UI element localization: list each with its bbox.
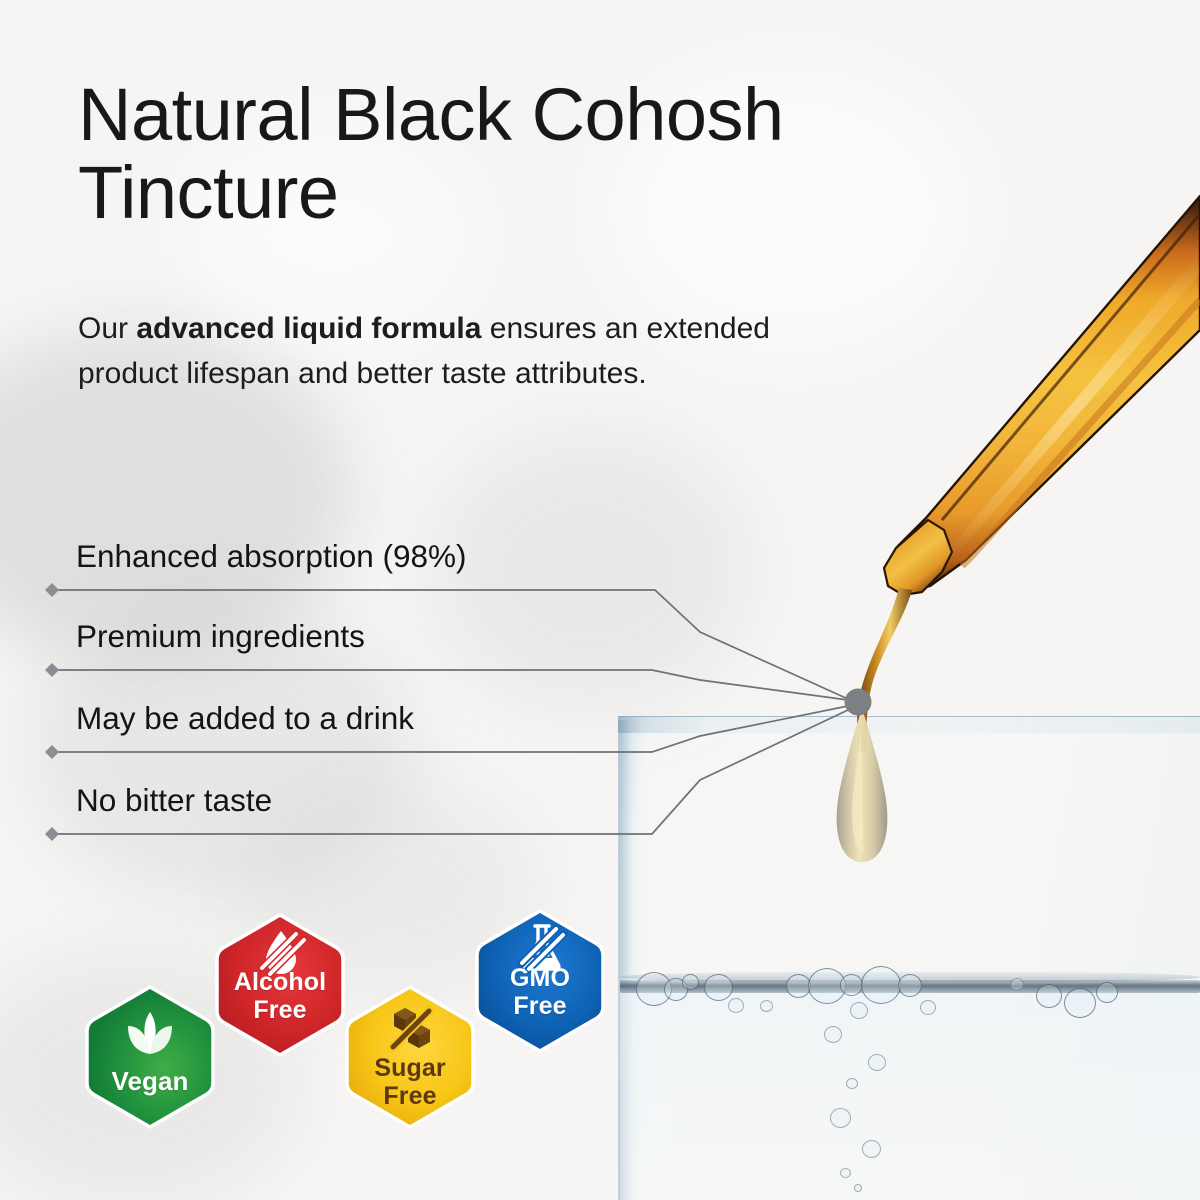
feature-item-3: No bitter taste bbox=[76, 782, 272, 819]
badge-sugar-free: Sugar Free bbox=[344, 984, 476, 1130]
badge-label-vegan-line1: Vegan bbox=[84, 1068, 216, 1095]
badge-vegan: Vegan bbox=[84, 984, 216, 1130]
badge-label-alcohol-line2: Free bbox=[214, 998, 346, 1024]
certification-badges: Vegan Alcohol Free bbox=[78, 898, 638, 1138]
glass-of-water bbox=[618, 716, 1200, 1200]
product-infographic: Natural Black Cohosh Tincture Our advanc… bbox=[0, 0, 1200, 1200]
feature-item-1: Premium ingredients bbox=[76, 618, 365, 655]
page-title: Natural Black Cohosh Tincture bbox=[78, 76, 1038, 233]
badge-label-gmo-line2: Free bbox=[474, 994, 606, 1020]
badge-label-gmo-line1: GMO bbox=[474, 966, 606, 992]
subtitle-highlight: advanced liquid formula bbox=[136, 312, 481, 345]
badge-label-sugar-line1: Sugar bbox=[344, 1056, 476, 1082]
badge-alcohol-free: Alcohol Free bbox=[214, 912, 346, 1058]
feature-item-0: Enhanced absorption (98%) bbox=[76, 538, 467, 575]
badge-label-alcohol-line1: Alcohol bbox=[214, 970, 346, 996]
badge-gmo-free: GMO Free bbox=[474, 908, 606, 1054]
badge-label-sugar-line2: Free bbox=[344, 1084, 476, 1110]
product-subtitle: Our advanced liquid formula ensures an e… bbox=[78, 306, 838, 396]
sugar-cube-slash-icon bbox=[384, 1004, 438, 1054]
leaf-icon bbox=[120, 1008, 180, 1066]
subtitle-part-1: Our bbox=[78, 312, 136, 345]
feature-item-2: May be added to a drink bbox=[76, 700, 414, 737]
